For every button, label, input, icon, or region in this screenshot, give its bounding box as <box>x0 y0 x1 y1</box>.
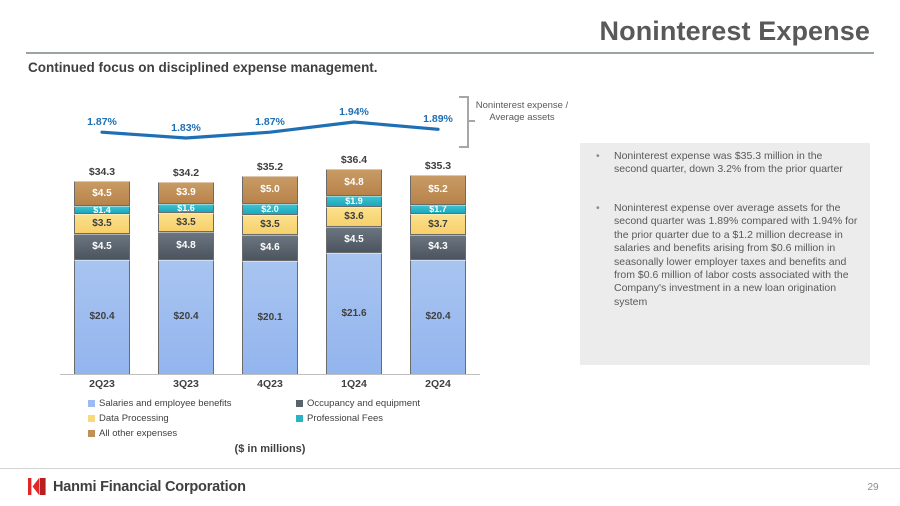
bar-segment[interactable]: $4.8 <box>158 232 214 259</box>
bar-segment-label: $3.5 <box>176 218 195 228</box>
bar-segment-label: $3.9 <box>176 188 195 198</box>
header-divider <box>26 52 874 54</box>
x-axis-label: 3Q23 <box>158 378 214 390</box>
ratio-data-label: 1.87% <box>76 116 128 128</box>
slide-subtitle: Continued focus on disciplined expense m… <box>28 60 628 75</box>
bar-segment[interactable]: $21.6 <box>326 253 382 375</box>
x-axis-label: 4Q23 <box>242 378 298 390</box>
bar-segment-label: $20.4 <box>89 312 114 322</box>
bar-segment[interactable]: $3.6 <box>326 207 382 227</box>
legend-label: Occupancy and equipment <box>307 398 420 409</box>
bar-segment[interactable]: $1.4 <box>74 206 130 214</box>
bar-segment[interactable]: $4.5 <box>74 234 130 259</box>
page-number: 29 <box>860 482 886 493</box>
bar-column[interactable]: $3.9$1.6$3.5$4.8$20.4 <box>158 182 214 376</box>
bar-segment[interactable]: $20.4 <box>74 260 130 375</box>
company-name: Hanmi Financial Corporation <box>53 479 246 495</box>
legend-swatch-icon <box>88 415 95 422</box>
bar-segment-label: $2.0 <box>261 205 279 214</box>
bar-segment[interactable]: $5.2 <box>410 175 466 204</box>
bar-segment-label: $3.5 <box>260 220 279 230</box>
bar-segment-label: $1.4 <box>93 206 111 214</box>
bar-total-label: $34.2 <box>158 167 214 179</box>
legend-label: All other expenses <box>99 428 177 439</box>
bar-segment-label: $20.4 <box>173 312 198 322</box>
ratio-data-label: 1.89% <box>412 113 464 125</box>
bullet-icon: • <box>596 150 614 177</box>
bar-segment-label: $20.1 <box>257 313 282 323</box>
legend-item[interactable]: Occupancy and equipment <box>296 398 420 409</box>
chart-baseline <box>60 374 480 375</box>
bar-segment-label: $1.7 <box>429 205 447 214</box>
bar-segment[interactable]: $1.7 <box>410 205 466 215</box>
bar-segment-label: $4.5 <box>344 235 363 245</box>
commentary-text: Noninterest expense was $35.3 million in… <box>614 150 858 177</box>
bar-segment[interactable]: $4.5 <box>74 181 130 206</box>
bar-segment-label: $4.5 <box>92 189 111 199</box>
bar-segment[interactable]: $2.0 <box>242 204 298 215</box>
bar-segment[interactable]: $3.5 <box>158 213 214 233</box>
bar-segment[interactable]: $1.6 <box>158 204 214 213</box>
ratio-data-label: 1.87% <box>244 116 296 128</box>
bar-segment[interactable]: $3.5 <box>242 215 298 235</box>
bar-segment[interactable]: $5.0 <box>242 176 298 204</box>
bar-total-label: $35.3 <box>410 160 466 172</box>
bar-segment-label: $3.6 <box>344 212 363 222</box>
hanmi-logo-icon <box>28 478 46 495</box>
bar-segment-label: $3.7 <box>428 220 447 230</box>
x-axis-label: 2Q24 <box>410 378 466 390</box>
bar-segment[interactable]: $3.9 <box>158 182 214 204</box>
legend-swatch-icon <box>296 415 303 422</box>
bar-segment[interactable]: $20.4 <box>410 260 466 375</box>
legend-label: Professional Fees <box>307 413 383 424</box>
bar-column[interactable]: $5.0$2.0$3.5$4.6$20.1 <box>242 176 298 375</box>
legend-label: Data Processing <box>99 413 169 424</box>
bar-total-label: $35.2 <box>242 161 298 173</box>
x-axis-label: 2Q23 <box>74 378 130 390</box>
bar-segment-label: $20.4 <box>425 312 450 322</box>
bar-segment[interactable]: $20.1 <box>242 261 298 375</box>
bar-segment[interactable]: $20.4 <box>158 260 214 375</box>
bar-segment-label: $1.6 <box>177 204 195 213</box>
bar-segment[interactable]: $4.3 <box>410 235 466 259</box>
footer-divider <box>0 468 900 469</box>
bar-segment-label: $5.0 <box>260 185 279 195</box>
legend-item[interactable]: Professional Fees <box>296 413 383 424</box>
slide: Noninterest Expense Continued focus on d… <box>0 0 900 506</box>
bar-total-label: $36.4 <box>326 154 382 166</box>
bar-segment-label: $4.8 <box>344 178 363 188</box>
bar-segment[interactable]: $4.5 <box>326 227 382 252</box>
legend-item[interactable]: Salaries and employee benefits <box>88 398 232 409</box>
bar-segment-label: $4.5 <box>92 242 111 252</box>
bar-total-label: $34.3 <box>74 166 130 178</box>
bar-segment-label: $3.5 <box>92 219 111 229</box>
ratio-data-label: 1.94% <box>328 106 380 118</box>
stacked-bar-chart: $4.5$1.4$3.5$4.5$20.4$3.9$1.6$3.5$4.8$20… <box>60 160 480 375</box>
bar-segment-label: $4.8 <box>176 241 195 251</box>
commentary-bullet: •Noninterest expense over average assets… <box>596 202 858 309</box>
legend-item[interactable]: All other expenses <box>88 428 177 439</box>
bar-segment[interactable]: $3.5 <box>74 214 130 234</box>
page-title: Noninterest Expense <box>470 14 870 50</box>
bar-segment-label: $4.3 <box>428 242 447 252</box>
commentary-bullet: •Noninterest expense was $35.3 million i… <box>596 150 858 177</box>
legend-swatch-icon <box>88 430 95 437</box>
bar-segment-label: $1.9 <box>345 197 363 206</box>
legend-swatch-icon <box>296 400 303 407</box>
legend-label: Salaries and employee benefits <box>99 398 232 409</box>
bullet-icon: • <box>596 202 614 309</box>
bar-column[interactable]: $4.5$1.4$3.5$4.5$20.4 <box>74 181 130 375</box>
bar-segment-label: $5.2 <box>428 185 447 195</box>
bar-segment[interactable]: $4.6 <box>242 235 298 261</box>
bar-segment[interactable]: $1.9 <box>326 196 382 207</box>
ratio-caption: Noninterest expense / Average assets <box>472 100 572 124</box>
commentary-text: Noninterest expense over average assets … <box>614 202 858 309</box>
company-logo: Hanmi Financial Corporation <box>28 478 246 495</box>
bar-column[interactable]: $4.8$1.9$3.6$4.5$21.6 <box>326 169 382 375</box>
units-label: ($ in millions) <box>160 443 380 455</box>
bar-segment[interactable]: $4.8 <box>326 169 382 196</box>
x-axis-label: 1Q24 <box>326 378 382 390</box>
bar-segment-label: $4.6 <box>260 243 279 253</box>
bar-segment[interactable]: $3.7 <box>410 214 466 235</box>
legend-item[interactable]: Data Processing <box>88 413 169 424</box>
legend-swatch-icon <box>88 400 95 407</box>
bar-column[interactable]: $5.2$1.7$3.7$4.3$20.4 <box>410 175 466 375</box>
bar-segment-label: $21.6 <box>341 309 366 319</box>
ratio-data-label: 1.83% <box>160 122 212 134</box>
